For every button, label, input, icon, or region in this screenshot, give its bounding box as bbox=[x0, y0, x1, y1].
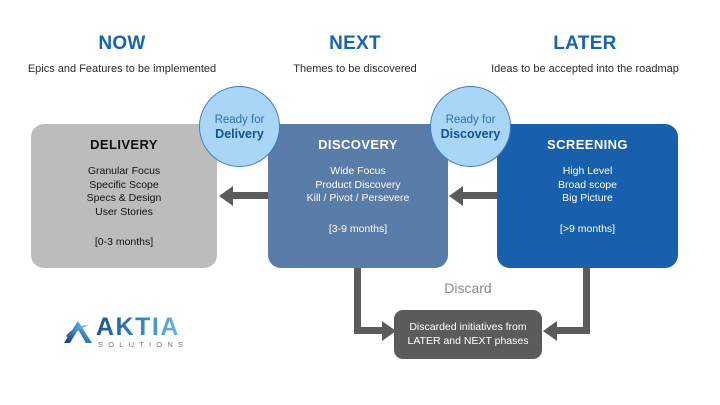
gate-label-bottom-discovery: Discovery bbox=[441, 127, 501, 141]
connector-screening-to-discard bbox=[583, 268, 590, 334]
column-subtitle-now: Epics and Features to be implemented bbox=[2, 62, 242, 76]
roadmap-diagram: NOW Epics and Features to be implemented… bbox=[0, 0, 720, 405]
discard-label: Discard bbox=[400, 280, 536, 296]
phase-box-delivery: DELIVERY Granular FocusSpecific ScopeSpe… bbox=[31, 124, 217, 268]
column-title-next: NEXT bbox=[235, 33, 475, 55]
connector-discovery-to-discard bbox=[354, 268, 361, 334]
column-title-later: LATER bbox=[465, 33, 705, 55]
column-header-now: NOW Epics and Features to be implemented bbox=[2, 33, 242, 76]
phase-duration-delivery: [0-3 months] bbox=[31, 236, 217, 248]
column-header-next: NEXT Themes to be discovered bbox=[235, 33, 475, 76]
phase-duration-discovery: [3-9 months] bbox=[268, 223, 448, 235]
discard-box: Discarded initiatives from LATER and NEX… bbox=[394, 310, 542, 359]
gate-circle-ready-for-discovery: Ready for Discovery bbox=[430, 86, 511, 167]
phase-details-discovery: Wide FocusProduct DiscoveryKill / Pivot … bbox=[268, 165, 448, 206]
logo-wordmark: AKTIA bbox=[96, 315, 188, 339]
phase-title-discovery: DISCOVERY bbox=[268, 137, 448, 152]
phase-title-delivery: DELIVERY bbox=[31, 137, 217, 152]
logo-tagline: SOLUTIONS bbox=[98, 340, 188, 349]
column-subtitle-next: Themes to be discovered bbox=[235, 62, 475, 76]
arrow-into-discard-left-icon bbox=[354, 327, 382, 334]
gate-label-top-delivery: Ready for bbox=[215, 113, 265, 127]
gate-label-top-discovery: Ready for bbox=[446, 113, 496, 127]
aktia-solutions-logo: AKTIA SOLUTIONS bbox=[63, 315, 188, 349]
column-header-later: LATER Ideas to be accepted into the road… bbox=[465, 33, 705, 76]
phase-title-screening: SCREENING bbox=[497, 137, 678, 152]
phase-box-discovery: DISCOVERY Wide FocusProduct DiscoveryKil… bbox=[268, 124, 448, 268]
column-title-now: NOW bbox=[2, 33, 242, 55]
phase-box-screening: SCREENING High LevelBroad scopeBig Pictu… bbox=[497, 124, 678, 268]
phase-duration-screening: [>9 months] bbox=[497, 223, 678, 235]
phase-details-screening: High LevelBroad scopeBig Picture bbox=[497, 165, 678, 206]
arrow-into-discard-right-icon bbox=[557, 327, 590, 334]
discard-box-text: Discarded initiatives from LATER and NEX… bbox=[394, 321, 542, 348]
arrow-screening-to-discovery-icon bbox=[462, 192, 497, 199]
phase-details-delivery: Granular FocusSpecific ScopeSpecs & Desi… bbox=[31, 165, 217, 219]
gate-circle-ready-for-delivery: Ready for Delivery bbox=[199, 86, 280, 167]
logo-text-wrap: AKTIA SOLUTIONS bbox=[96, 315, 188, 349]
column-subtitle-later: Ideas to be accepted into the roadmap bbox=[465, 62, 705, 76]
aktia-chevron-mark-icon bbox=[63, 319, 93, 345]
arrow-discovery-to-delivery-icon bbox=[232, 192, 268, 199]
gate-label-bottom-delivery: Delivery bbox=[215, 127, 264, 141]
